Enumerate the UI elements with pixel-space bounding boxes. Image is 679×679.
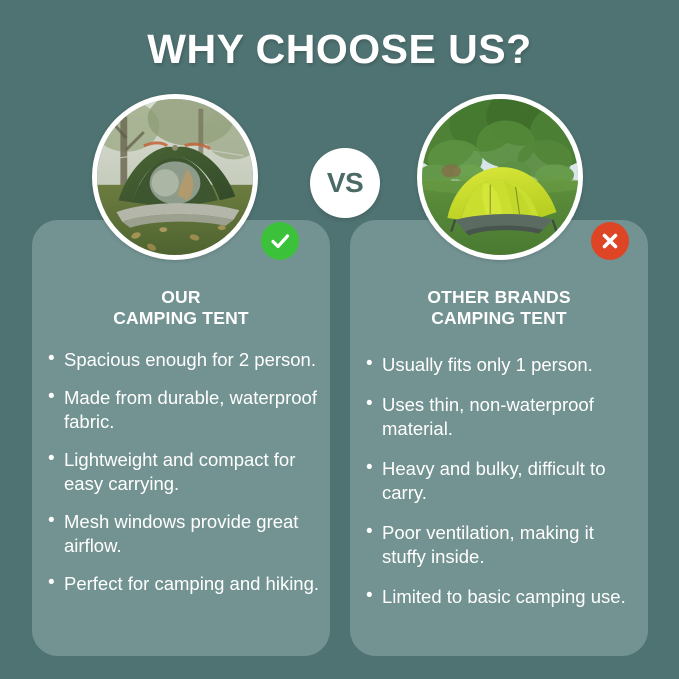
list-item: Usually fits only 1 person. (366, 353, 638, 377)
list-item: Uses thin, non-waterproof material. (366, 393, 638, 441)
our-column-heading: OUR CAMPING TENT (32, 287, 330, 329)
list-item: Spacious enough for 2 person. (48, 348, 320, 372)
our-tent-illustration (97, 99, 253, 255)
vs-label: VS (327, 167, 363, 199)
other-brands-column-heading: OTHER BRANDS CAMPING TENT (350, 287, 648, 329)
list-item: Made from durable, waterproof fabric. (48, 386, 320, 434)
list-item: Limited to basic camping use. (366, 585, 638, 609)
other-brand-tent-photo (417, 94, 583, 260)
our-tent-photo (92, 94, 258, 260)
close-icon (598, 229, 622, 253)
check-icon (268, 229, 292, 253)
other-brand-tent-illustration (422, 99, 578, 255)
list-item: Lightweight and compact for easy carryin… (48, 448, 320, 496)
check-badge (261, 222, 299, 260)
page-title: WHY CHOOSE US? (0, 26, 679, 73)
list-item: Heavy and bulky, difficult to carry. (366, 457, 638, 505)
list-item: Perfect for camping and hiking. (48, 572, 320, 596)
cross-badge (591, 222, 629, 260)
other-brands-features-list: Usually fits only 1 person. Uses thin, n… (366, 353, 638, 625)
list-item: Mesh windows provide great airflow. (48, 510, 320, 558)
our-features-list: Spacious enough for 2 person. Made from … (48, 348, 320, 610)
vs-badge: VS (310, 148, 380, 218)
list-item: Poor ventilation, making it stuffy insid… (366, 521, 638, 569)
